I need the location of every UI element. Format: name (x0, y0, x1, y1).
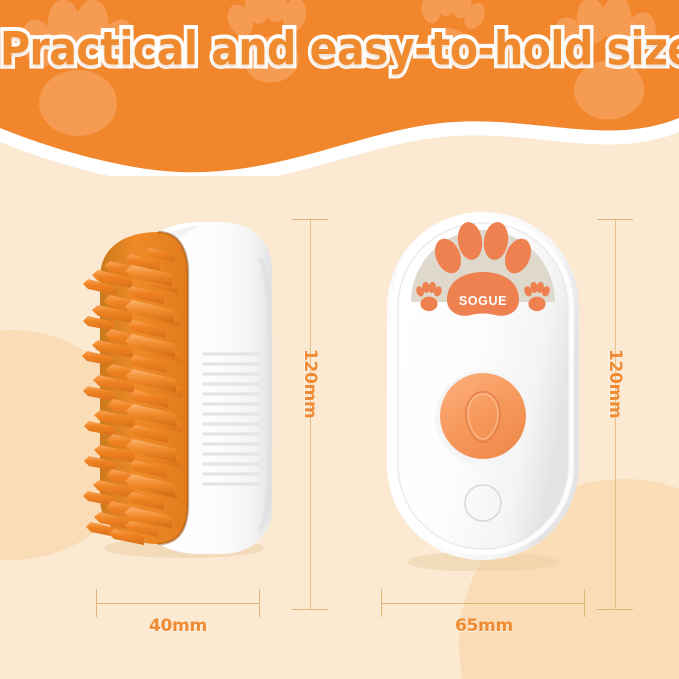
dimension-cap-left-height-bottom (292, 609, 328, 610)
infographic-canvas: Practical and easy-to-hold size (0, 0, 679, 679)
brush-illustration (54, 218, 276, 558)
dimension-line-right-width (381, 603, 584, 604)
header-banner: Practical and easy-to-hold size (0, 0, 679, 176)
dimension-cap-right-height-bottom (597, 609, 633, 610)
dimension-label-left-width: 40mm (149, 616, 207, 636)
device-illustration (381, 206, 585, 571)
dimension-label-right-height: 120mm (605, 349, 625, 418)
page-title: Practical and easy-to-hold size (0, 21, 679, 76)
dimension-cap-left-width-end (259, 589, 260, 617)
dimension-cap-right-width-end (584, 589, 585, 617)
product-device-back-view: SOGUE (381, 206, 585, 571)
dimension-label-left-height: 120mm (300, 349, 320, 418)
dimension-line-left-width (96, 603, 259, 604)
dimension-cap-left-height-top (292, 219, 328, 220)
dimension-cap-right-width-start (381, 589, 382, 617)
power-button[interactable] (440, 373, 526, 459)
dimension-label-right-width: 65mm (455, 616, 513, 636)
dimension-cap-right-height-top (597, 219, 633, 220)
product-brush-side-view (54, 218, 276, 558)
dimension-cap-left-width-start (96, 589, 97, 617)
